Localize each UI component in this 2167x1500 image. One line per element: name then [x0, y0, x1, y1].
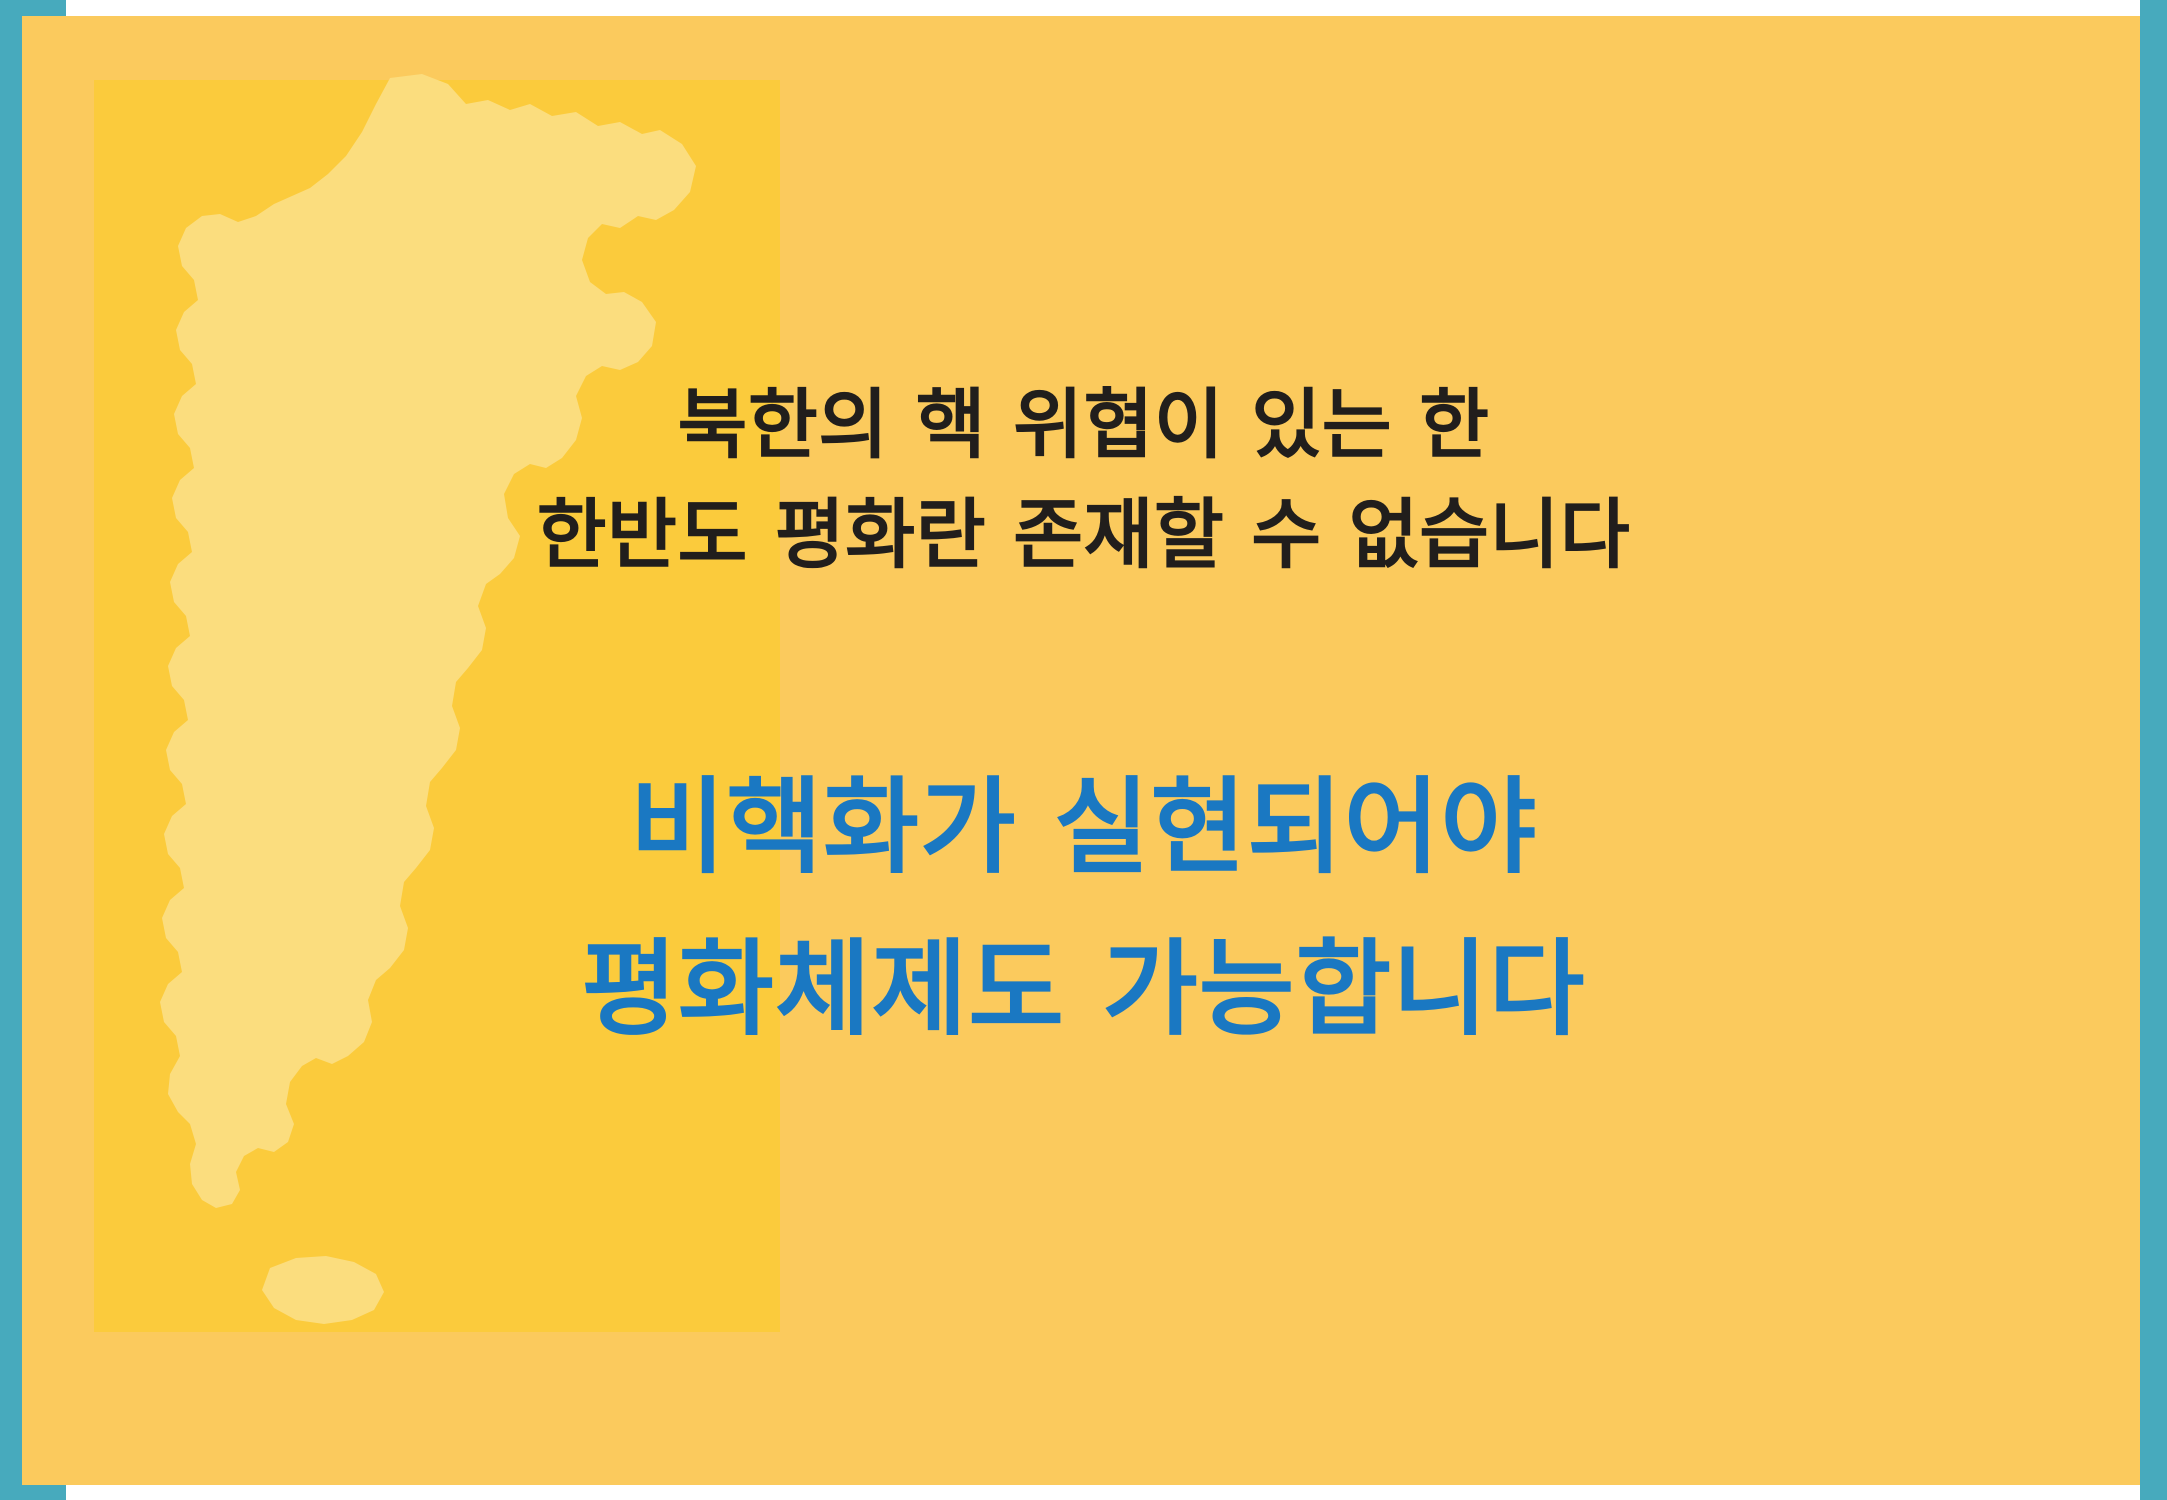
poster-slide: 북한의 핵 위협이 있는 한 한반도 평화란 존재할 수 없습니다 비핵화가 실…	[0, 0, 2167, 1500]
korean-peninsula-map-icon	[90, 70, 730, 1360]
korean-peninsula-svg	[90, 70, 730, 1360]
right-accent-bar	[2140, 0, 2167, 1500]
